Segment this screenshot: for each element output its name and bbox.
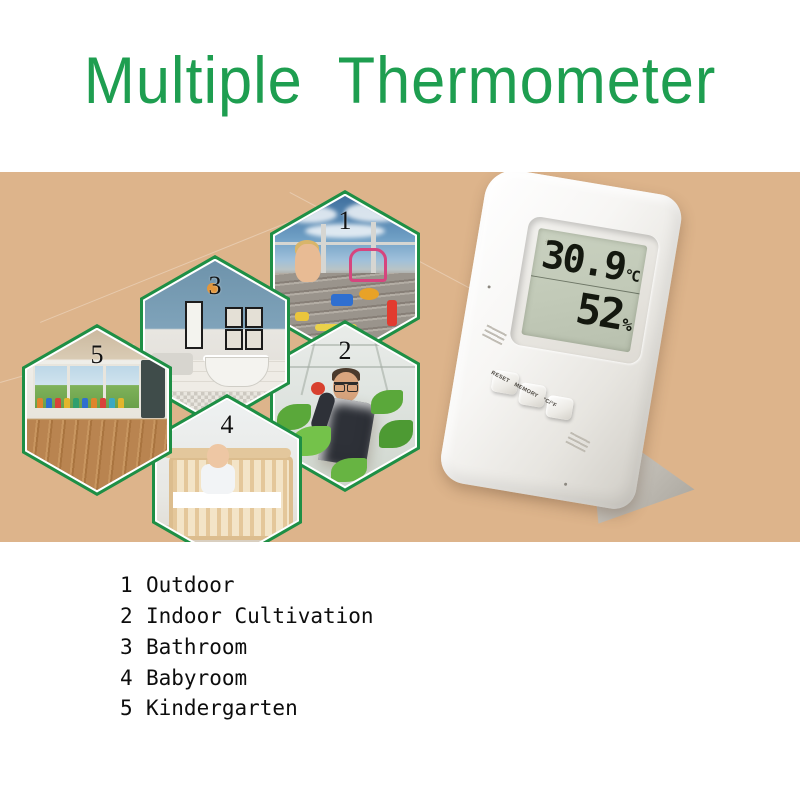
legend-label-1: Outdoor xyxy=(146,573,235,597)
legend-index-4: 4 xyxy=(120,663,146,694)
legend-item-kindergarten: 5Kindergarten xyxy=(120,693,374,724)
lcd-bezel: ☼ 30.9°C 52% xyxy=(509,215,661,365)
sensor-dot xyxy=(487,285,490,288)
legend-index-3: 3 xyxy=(120,632,146,663)
page-title: Multiple Thermometer xyxy=(28,46,772,115)
vent-slots-top xyxy=(482,323,508,346)
legend-item-babyroom: 4Babyroom xyxy=(120,663,374,694)
screw-dot xyxy=(564,483,567,486)
lcd-screen: ☼ 30.9°C 52% xyxy=(521,228,647,353)
legend-label-3: Bathroom xyxy=(146,635,247,659)
legend-item-bathroom: 3Bathroom xyxy=(120,632,374,663)
legend-item-outdoor: 1Outdoor xyxy=(120,570,374,601)
lcd-temperature-row: 30.9°C xyxy=(539,235,642,289)
legend-list: 1Outdoor 2Indoor Cultivation 3Bathroom 4… xyxy=(120,570,374,724)
legend-label-4: Babyroom xyxy=(146,666,247,690)
legend-label-2: Indoor Cultivation xyxy=(146,604,374,628)
legend-index-5: 5 xyxy=(120,693,146,724)
legend-item-indoor-cultivation: 2Indoor Cultivation xyxy=(120,601,374,632)
hexagon-collage: 1 xyxy=(0,172,460,542)
lcd-humidity-row: 52% xyxy=(573,287,635,338)
legend-index-2: 2 xyxy=(120,601,146,632)
lcd-humidity-value: 52 xyxy=(573,287,626,336)
lcd-temperature-unit: °C xyxy=(622,268,639,289)
product-scene-band: 1 xyxy=(0,172,800,542)
poster-page: Multiple Thermometer xyxy=(0,0,800,800)
legend-label-5: Kindergarten xyxy=(146,696,298,720)
lcd-humidity-unit: % xyxy=(620,317,631,338)
legend-index-1: 1 xyxy=(120,570,146,601)
thermometer-device[interactable]: ☼ 30.9°C 52% xyxy=(440,172,740,542)
